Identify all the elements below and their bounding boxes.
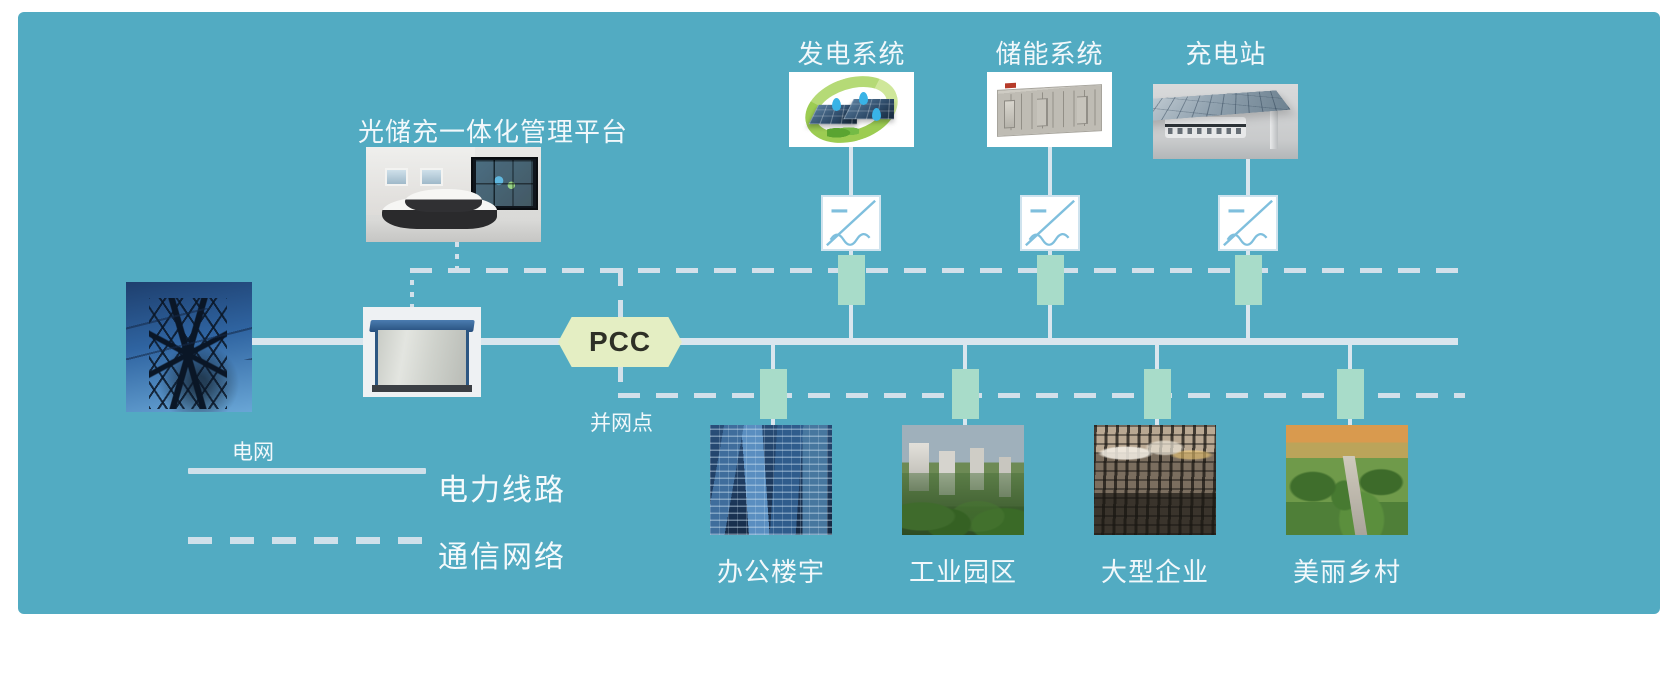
label-storage-system: 储能系统 <box>987 34 1112 71</box>
inverter-symbol-icon <box>1022 197 1078 249</box>
transmission-tower-icon <box>126 282 252 412</box>
management-platform-image[interactable] <box>366 147 541 242</box>
label-pcc-sub: 并网点 <box>590 407 653 437</box>
comm-node-industrial[interactable] <box>952 369 979 419</box>
industrial-park-image[interactable] <box>902 425 1024 535</box>
solar-panel-icon <box>789 72 914 147</box>
comm-node-village[interactable] <box>1337 369 1364 419</box>
substation-cabinet-icon <box>363 307 481 397</box>
label-charging-station: 充电站 <box>1161 34 1291 71</box>
platform-title: 光储充一体化管理平台 <box>358 112 618 149</box>
platform-drop-line <box>455 242 459 272</box>
comm-node-enterprise[interactable] <box>1144 369 1171 419</box>
inverter-symbol-icon <box>823 197 879 249</box>
substation-image[interactable] <box>363 307 481 397</box>
label-heavy-industry: 大型企业 <box>1094 552 1216 589</box>
comm-node-storage[interactable] <box>1037 255 1064 305</box>
label-office-building: 办公楼宇 <box>710 552 832 589</box>
heavy-industry-image[interactable] <box>1094 425 1216 535</box>
comm-node-office[interactable] <box>760 369 787 419</box>
charging-station-icon <box>1153 84 1298 159</box>
label-grid: 电网 <box>232 436 274 466</box>
source-riser-2 <box>1048 144 1052 196</box>
inverter-storage[interactable] <box>1020 195 1080 251</box>
inverter-charging[interactable] <box>1218 195 1278 251</box>
transmission-tower-image[interactable] <box>126 282 252 412</box>
legend-power-line-swatch <box>188 468 426 474</box>
countryside-image[interactable] <box>1286 425 1408 535</box>
office-building-image[interactable] <box>710 425 832 535</box>
pcc-node[interactable]: PCC <box>558 317 682 367</box>
charging-station-image[interactable] <box>1153 84 1298 159</box>
control-room-icon <box>366 147 541 242</box>
inverter-generation[interactable] <box>821 195 881 251</box>
label-generation-system: 发电系统 <box>789 34 914 71</box>
diagram-canvas: 发电系统 储能系统 充电站 光储充一体化管理平台 <box>0 0 1678 673</box>
label-countryside: 美丽乡村 <box>1286 552 1408 589</box>
industrial-park-icon <box>902 425 1024 535</box>
heavy-industry-icon <box>1094 425 1216 535</box>
storage-system-image[interactable] <box>987 72 1112 147</box>
legend-comm-network-label: 通信网络 <box>438 532 566 576</box>
legend-comm-network-swatch <box>188 537 426 544</box>
upper-comm-bus <box>410 268 1465 273</box>
comm-node-generation[interactable] <box>838 255 865 305</box>
generation-system-image[interactable] <box>789 72 914 147</box>
source-riser-3 <box>1246 155 1250 196</box>
office-building-icon <box>710 425 832 535</box>
countryside-icon <box>1286 425 1408 535</box>
battery-container-icon <box>987 72 1112 147</box>
diagram-panel: 发电系统 储能系统 充电站 光储充一体化管理平台 <box>18 12 1660 614</box>
inverter-symbol-icon <box>1220 197 1276 249</box>
legend-power-line-label: 电力线路 <box>438 465 566 509</box>
comm-node-charging[interactable] <box>1235 255 1262 305</box>
source-riser-1 <box>849 144 853 196</box>
label-industrial-park: 工业园区 <box>902 552 1024 589</box>
